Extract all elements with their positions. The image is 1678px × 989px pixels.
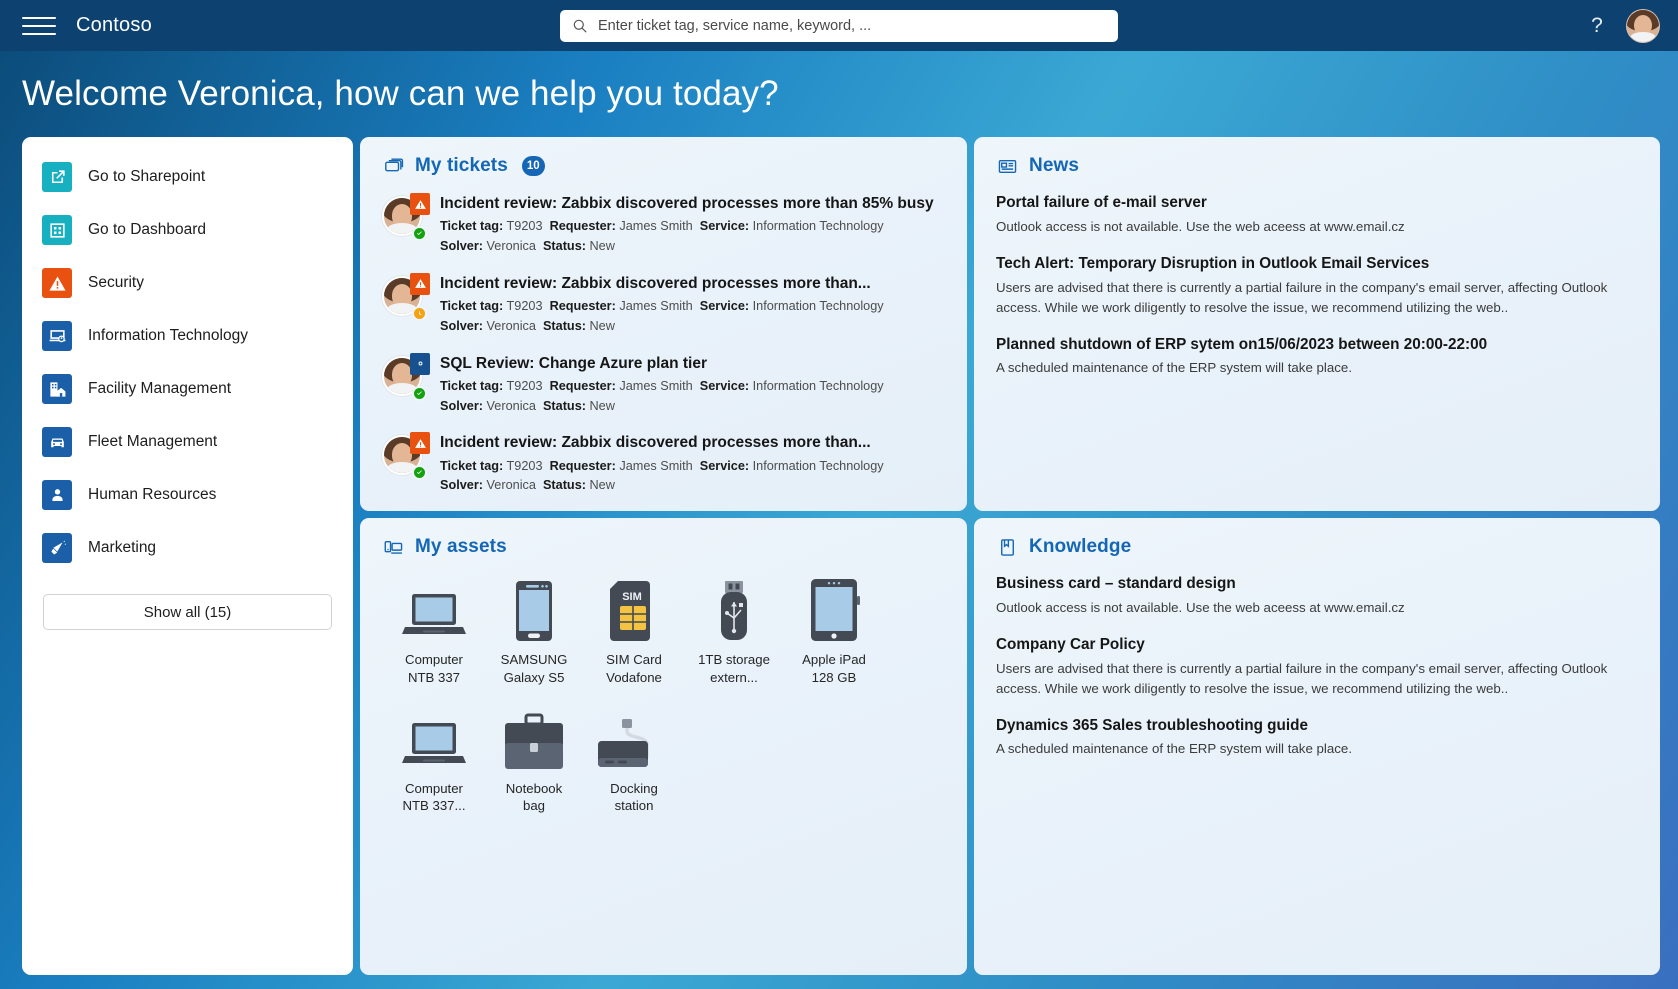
sidebar-item-label: Fleet Management xyxy=(88,433,217,451)
article-text: Users are advised that there is currentl… xyxy=(996,659,1636,699)
article-item[interactable]: Portal failure of e-mail serverOutlook a… xyxy=(996,193,1636,237)
article-item[interactable]: Dynamics 365 Sales troubleshooting guide… xyxy=(996,716,1636,760)
hero-banner: Welcome Veronica, how can we help you to… xyxy=(0,51,1678,137)
article-text: Users are advised that there is currentl… xyxy=(996,278,1636,318)
asset-label: Notebookbag xyxy=(506,780,562,816)
sidebar-item-label: Go to Sharepoint xyxy=(88,168,205,186)
laptop-icon xyxy=(401,580,467,642)
dashboard-grid: Go to Sharepoint Go to Dashboard Securit… xyxy=(0,137,1678,989)
docking-station-icon xyxy=(596,709,672,771)
ticket-meta: Ticket tag: T9203 Requester: James Smith… xyxy=(440,297,947,336)
sidebar-item-information-technology[interactable]: Information Technology xyxy=(42,318,333,354)
assets-list: ComputerNTB 337SAMSUNGGalaxy S5SIMSIM Ca… xyxy=(360,558,967,837)
ticket-meta: Ticket tag: T9203 Requester: James Smith… xyxy=(440,457,947,496)
sidebar-item-marketing[interactable]: Marketing xyxy=(42,530,333,566)
person-icon xyxy=(42,480,72,510)
building-home-icon xyxy=(42,374,72,404)
warning-triangle-icon xyxy=(42,268,72,298)
sidebar-item-label: Marketing xyxy=(88,539,156,557)
external-link-icon xyxy=(42,162,72,192)
sim-card-icon: SIM xyxy=(606,580,662,642)
my-assets-card: My assets ComputerNTB 337SAMSUNGGalaxy S… xyxy=(360,518,967,975)
hamburger-menu-icon[interactable] xyxy=(22,13,56,39)
asset-item[interactable]: 1TB storageextern... xyxy=(684,580,784,687)
ticket-title: Incident review: Zabbix discovered proce… xyxy=(440,433,947,452)
article-title: Tech Alert: Temporary Disruption in Outl… xyxy=(996,254,1636,274)
sidebar-item-human-resources[interactable]: Human Resources xyxy=(42,477,333,513)
article-text: Outlook access is not available. Use the… xyxy=(996,217,1636,237)
news-list: Portal failure of e-mail serverOutlook a… xyxy=(974,177,1660,378)
tickets-list: Incident review: Zabbix discovered proce… xyxy=(360,177,967,496)
ticket-avatar xyxy=(382,276,428,322)
panel-title: News xyxy=(1029,155,1079,177)
panel-title: My tickets xyxy=(415,155,508,177)
incident-warning-icon xyxy=(410,432,430,454)
asset-item[interactable]: Apple iPad128 GB xyxy=(784,580,884,687)
gear-request-icon xyxy=(410,353,430,375)
laptop-user-icon xyxy=(42,321,72,351)
sidebar-item-label: Facility Management xyxy=(88,380,231,398)
asset-item[interactable]: Notebookbag xyxy=(484,709,584,816)
my-tickets-card: My tickets 10 Incident review: Zabbix di… xyxy=(360,137,967,511)
sidebar-item-fleet-management[interactable]: Fleet Management xyxy=(42,424,333,460)
sidebar-item-security[interactable]: Security xyxy=(42,265,333,301)
tablet-icon xyxy=(807,580,861,642)
devices-icon xyxy=(382,536,404,558)
sidebar-item-label: Information Technology xyxy=(88,327,248,345)
page-title: Welcome Veronica, how can we help you to… xyxy=(22,74,779,114)
global-search[interactable] xyxy=(560,10,1118,42)
ticket-avatar xyxy=(382,196,428,242)
article-title: Portal failure of e-mail server xyxy=(996,193,1636,213)
article-title: Company Car Policy xyxy=(996,635,1636,655)
car-icon xyxy=(42,427,72,457)
search-icon xyxy=(572,18,588,34)
asset-label: ComputerNTB 337 xyxy=(405,651,463,687)
ticket-item[interactable]: Incident review: Zabbix discovered proce… xyxy=(382,432,947,496)
article-title: Business card – standard design xyxy=(996,574,1636,594)
ticket-item[interactable]: Incident review: Zabbix discovered proce… xyxy=(382,273,947,337)
ticket-title: Incident review: Zabbix discovered proce… xyxy=(440,194,947,213)
news-icon xyxy=(996,155,1018,177)
show-all-button[interactable]: Show all (15) xyxy=(43,594,332,630)
article-text: A scheduled maintenance of the ERP syste… xyxy=(996,358,1636,378)
sidebar-item-facility-management[interactable]: Facility Management xyxy=(42,371,333,407)
brand-title: Contoso xyxy=(76,14,152,37)
sidebar-item-label: Human Resources xyxy=(88,486,216,504)
sidebar-item-label: Security xyxy=(88,274,144,292)
ticket-meta: Ticket tag: T9203 Requester: James Smith… xyxy=(440,377,947,416)
top-bar: Contoso ? xyxy=(0,0,1678,51)
article-title: Planned shutdown of ERP sytem on15/06/20… xyxy=(996,335,1636,355)
services-nav: Go to Sharepoint Go to Dashboard Securit… xyxy=(22,137,353,630)
article-text: A scheduled maintenance of the ERP syste… xyxy=(996,739,1636,759)
asset-label: 1TB storageextern... xyxy=(698,651,770,687)
services-sidebar-card: Go to Sharepoint Go to Dashboard Securit… xyxy=(22,137,353,975)
dashboard-grid-icon xyxy=(42,215,72,245)
ticket-meta: Ticket tag: T9203 Requester: James Smith… xyxy=(440,217,947,256)
sidebar-item-label: Go to Dashboard xyxy=(88,221,206,239)
asset-item[interactable]: ComputerNTB 337... xyxy=(384,709,484,816)
ticket-avatar xyxy=(382,435,428,481)
article-text: Outlook access is not available. Use the… xyxy=(996,598,1636,618)
book-icon xyxy=(996,536,1018,558)
asset-item[interactable]: SAMSUNGGalaxy S5 xyxy=(484,580,584,687)
panel-title: Knowledge xyxy=(1029,536,1131,558)
ticket-avatar xyxy=(382,356,428,402)
user-avatar[interactable] xyxy=(1626,9,1660,43)
asset-label: Apple iPad128 GB xyxy=(802,651,866,687)
article-item[interactable]: Tech Alert: Temporary Disruption in Outl… xyxy=(996,254,1636,318)
ticket-title: Incident review: Zabbix discovered proce… xyxy=(440,274,947,293)
incident-warning-icon xyxy=(410,273,430,295)
article-item[interactable]: Business card – standard designOutlook a… xyxy=(996,574,1636,618)
article-item[interactable]: Company Car PolicyUsers are advised that… xyxy=(996,635,1636,699)
my-assets-header: My assets xyxy=(360,518,967,558)
briefcase-icon xyxy=(501,709,567,771)
asset-label: SAMSUNGGalaxy S5 xyxy=(501,651,568,687)
asset-item[interactable]: ComputerNTB 337 xyxy=(384,580,484,687)
usb-stick-icon xyxy=(712,580,756,642)
sidebar-item-go-to-dashboard[interactable]: Go to Dashboard xyxy=(42,212,333,248)
knowledge-list: Business card – standard designOutlook a… xyxy=(974,558,1660,759)
help-icon[interactable]: ? xyxy=(1586,15,1608,36)
asset-item[interactable]: Dockingstation xyxy=(584,709,684,816)
tickets-count-badge: 10 xyxy=(522,156,545,176)
smartphone-icon xyxy=(512,580,556,642)
article-title: Dynamics 365 Sales troubleshooting guide xyxy=(996,716,1636,736)
tickets-stack-icon xyxy=(382,155,404,177)
knowledge-card: Knowledge Business card – standard desig… xyxy=(974,518,1660,975)
megaphone-icon xyxy=(42,533,72,563)
asset-label: SIM CardVodafone xyxy=(606,651,662,687)
sidebar-item-go-to-sharepoint[interactable]: Go to Sharepoint xyxy=(42,159,333,195)
incident-warning-icon xyxy=(410,193,430,215)
article-item[interactable]: Planned shutdown of ERP sytem on15/06/20… xyxy=(996,335,1636,379)
ticket-item[interactable]: Incident review: Zabbix discovered proce… xyxy=(382,193,947,257)
laptop-icon xyxy=(401,709,467,771)
news-header: News xyxy=(974,137,1660,177)
ticket-item[interactable]: SQL Review: Change Azure plan tierTicket… xyxy=(382,353,947,417)
asset-item[interactable]: SIMSIM CardVodafone xyxy=(584,580,684,687)
knowledge-header: Knowledge xyxy=(974,518,1660,558)
news-card: News Portal failure of e-mail serverOutl… xyxy=(974,137,1660,511)
asset-label: Dockingstation xyxy=(610,780,658,816)
svg-text:SIM: SIM xyxy=(622,591,642,603)
search-input[interactable] xyxy=(598,18,1106,34)
ticket-title: SQL Review: Change Azure plan tier xyxy=(440,354,947,373)
my-tickets-header: My tickets 10 xyxy=(360,137,967,177)
panel-title: My assets xyxy=(415,536,507,558)
asset-label: ComputerNTB 337... xyxy=(402,780,465,816)
